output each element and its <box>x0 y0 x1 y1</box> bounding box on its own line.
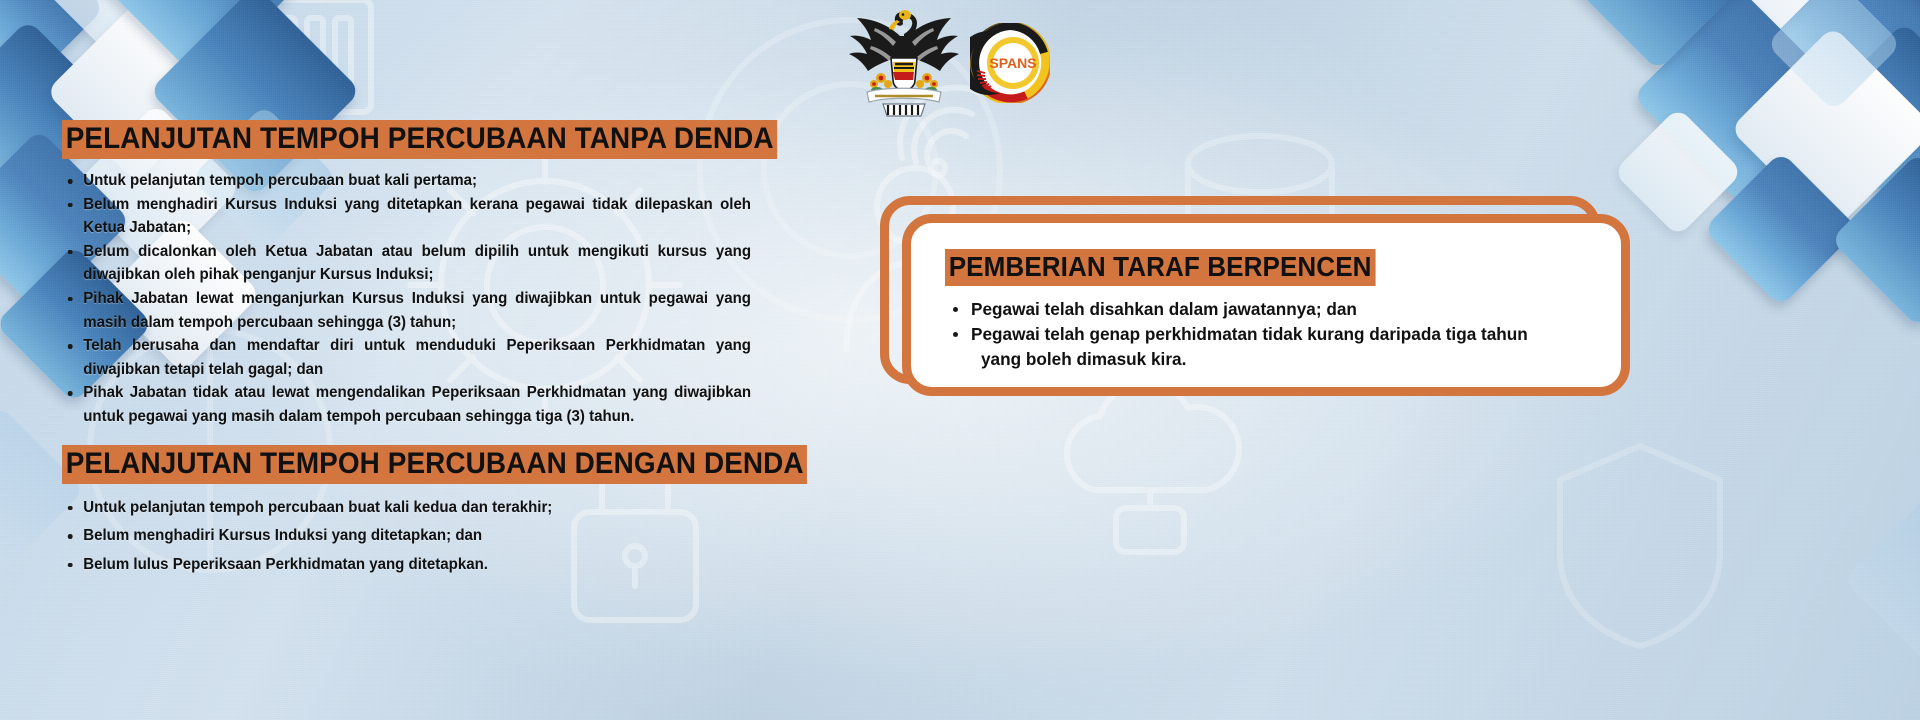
spans-logo-text: SPANS <box>989 55 1036 71</box>
logo-group: SPANS <box>845 6 1085 118</box>
section-one-bullet-list: Untuk pelanjutan tempoh percubaan buat k… <box>62 169 776 429</box>
list-item: Untuk pelanjutan tempoh percubaan buat k… <box>62 169 751 193</box>
list-item: Pihak Jabatan tidak atau lewat mengendal… <box>62 381 751 428</box>
list-item-line-2: yang boleh dimasuk kira. <box>971 347 1591 372</box>
list-item: Belum lulus Peperiksaan Perkhidmatan yan… <box>62 553 751 577</box>
list-item: Pegawai telah genap perkhidmatan tidak k… <box>945 322 1591 372</box>
right-card-zone: PEMBERIAN TARAF BERPENCEN Pegawai telah … <box>880 196 1880 426</box>
section-two-heading: PELANJUTAN TEMPOH PERCUBAAN DENGAN DENDA <box>62 445 807 484</box>
poster-canvas: SPANS PELANJUTAN TEMPOH PERCUBAAN TANPA … <box>0 0 1920 720</box>
card-bullet-list: Pegawai telah disahkan dalam jawatannya;… <box>945 297 1591 372</box>
left-content-column: PELANJUTAN TEMPOH PERCUBAAN TANPA DENDA … <box>62 120 776 576</box>
list-item: Telah berusaha dan mendaftar diri untuk … <box>62 334 751 381</box>
list-item: Untuk pelanjutan tempoh percubaan buat k… <box>62 496 751 520</box>
spans-logo-icon: SPANS <box>970 23 1050 103</box>
list-item: Belum dicalonkan oleh Ketua Jabatan atau… <box>62 240 751 287</box>
list-item: Belum menghadiri Kursus Induksi yang dit… <box>62 524 751 548</box>
list-item-line-1: Pegawai telah genap perkhidmatan tidak k… <box>971 324 1528 344</box>
section-two-bullet-list: Untuk pelanjutan tempoh percubaan buat k… <box>62 496 776 577</box>
section-one-heading: PELANJUTAN TEMPOH PERCUBAAN TANPA DENDA <box>62 120 777 159</box>
list-item: Pegawai telah disahkan dalam jawatannya;… <box>945 297 1591 322</box>
section-one-heading-wrap: PELANJUTAN TEMPOH PERCUBAAN TANPA DENDA <box>62 120 776 159</box>
card-heading-wrap: PEMBERIAN TARAF BERPENCEN <box>945 249 1591 286</box>
card-heading: PEMBERIAN TARAF BERPENCEN <box>945 249 1375 286</box>
list-item: Belum menghadiri Kursus Induksi yang dit… <box>62 193 751 240</box>
sarawak-state-crest-icon <box>845 6 963 118</box>
section-two-heading-wrap: PELANJUTAN TEMPOH PERCUBAAN DENGAN DENDA <box>62 445 776 484</box>
list-item: Pihak Jabatan lewat menganjurkan Kursus … <box>62 287 751 334</box>
pemberian-taraf-berpencen-card: PEMBERIAN TARAF BERPENCEN Pegawai telah … <box>902 214 1630 396</box>
